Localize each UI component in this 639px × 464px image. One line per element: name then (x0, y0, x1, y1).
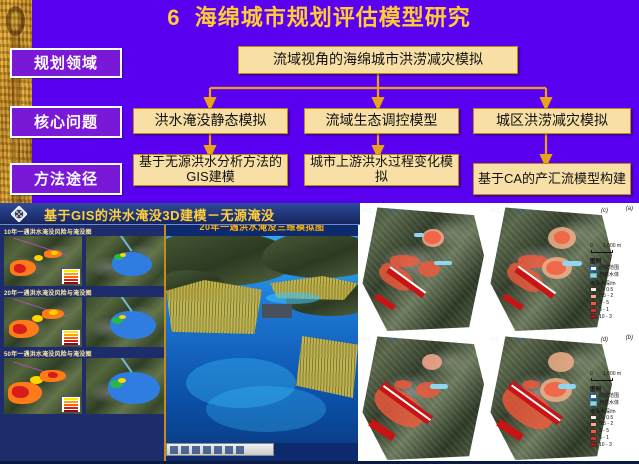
layer-icon[interactable] (203, 446, 211, 454)
left-map-label-20yr: 20年一遇洪水淹没风险与淹没图 (0, 288, 166, 297)
flow-mid-box-1: 洪水淹没静态模拟 (133, 108, 288, 134)
category-label-method-approach: 方法途径 (10, 163, 122, 195)
map-legend-top: 0 1,000 m 图例 研究范围 自然水体 淹没水深/m 0 - 0.5 (590, 243, 638, 320)
risk-map-50yr (4, 358, 82, 414)
tools-icon[interactable] (236, 446, 244, 454)
legend-swatch (590, 294, 597, 299)
category-label-core-question: 核心问题 (10, 106, 122, 138)
legend-swatch (590, 401, 597, 406)
info-icon[interactable] (225, 446, 233, 454)
gis-banner: 基于GIS的洪水淹没3D建模－无源淹没 (0, 203, 360, 225)
legend-swatch (590, 394, 597, 399)
left-map-pair-10yr (4, 236, 164, 286)
panel-corner-tag-d: 点位 (490, 336, 500, 343)
viewer-toolbar[interactable] (166, 443, 274, 456)
scale-zero-label: 0 (590, 243, 593, 249)
flow-root-box: 流域视角的海绵城市洪涝减灾模拟 (238, 46, 518, 74)
legend-depth-label: 0.5 - 2 (599, 293, 613, 300)
legend-depth-title: 淹没水深/m (590, 280, 638, 287)
legend-depth-label: 0.5 - 2 (599, 421, 613, 428)
legend-item-label: 自然水体 (599, 400, 619, 407)
legend-item-natural-water: 自然水体 (590, 400, 638, 407)
flow-leaf-box-1: 基于无源洪水分析方法的GIS建模 (133, 154, 288, 186)
legend-item-natural-water: 自然水体 (590, 272, 638, 279)
legend-swatch (590, 415, 597, 420)
map-panel-b: 点位 (360, 334, 484, 460)
legend-swatch (590, 436, 597, 441)
panel-tag-d: (d) (601, 337, 608, 343)
scale-bar-top: 0 1,000 m (590, 243, 638, 255)
legend-depth-label: 5 - 1 (599, 435, 609, 442)
panel-corner-tag-b: 点位 (362, 336, 372, 343)
legend-depth-class: 2 - 5 (590, 300, 638, 307)
legend-title: 图例 (590, 257, 638, 265)
legend-item-label: 自然水体 (599, 272, 619, 279)
legend-swatch (590, 442, 597, 447)
slide-number: 6 (167, 5, 180, 30)
legend-depth-title: 淹没水深/m (590, 408, 638, 415)
panel-tag-a: (a) (626, 206, 633, 212)
center-3d-scene (166, 236, 358, 443)
legend-title: 图例 (590, 385, 638, 393)
pan-icon[interactable] (170, 446, 178, 454)
scale-max-label: 1,000 m (603, 243, 621, 249)
flow-leaf-box-2: 城市上游洪水过程变化模拟 (304, 154, 459, 186)
left-map-screenshot: 10年一遇洪水淹没风险与淹没图 (0, 203, 166, 464)
flow-leaf-box-3: 基于CA的产汇流模型构建 (473, 163, 631, 195)
bottom-figure-area: 基于GIS的洪水淹没3D建模－无源淹没 10年一遇洪水淹没风险与淹没图 (0, 203, 639, 464)
globe-diamond-icon (11, 206, 27, 222)
legend-swatch (590, 422, 597, 427)
inundation-map-50yr (86, 358, 164, 414)
panel-corner-tag-c: 点位 (490, 207, 500, 214)
legend-depth-label: 10 - 3 (599, 442, 612, 449)
legend-swatch (590, 301, 597, 306)
scale-zero-label: 0 (590, 371, 593, 377)
slide-canvas: 6 海绵城市规划评估模型研究 规划领域 核心问题 方法途径 流域视角的海绵城市洪… (0, 0, 639, 464)
legend-item-study-area: 研究范围 (590, 393, 638, 400)
legend-depth-class: 0 - 0.5 (590, 287, 638, 294)
risk-map-20yr (4, 297, 82, 347)
legend-swatch (590, 287, 597, 292)
scale-bar-graphic (591, 378, 613, 381)
legend-depth-class: 10 - 3 (590, 314, 638, 321)
page-title: 6 海绵城市规划评估模型研究 (104, 2, 534, 34)
legend-swatch (590, 314, 597, 319)
map-legend-bottom: 0 1,000 m 图例 研究范围 自然水体 淹没水深/m 0 - 0.5 (590, 371, 638, 448)
legend-swatch (590, 308, 597, 313)
measure-icon[interactable] (192, 446, 200, 454)
legend-depth-label: 5 - 1 (599, 307, 609, 314)
legend-depth-class: 5 - 1 (590, 307, 638, 314)
panel-corner-tag-a: 点位 (362, 207, 372, 214)
center-3d-panel: 20年一遇洪水淹没三维模拟图 (166, 203, 358, 464)
inundation-map-20yr (86, 297, 164, 347)
legend-depth-class: 0.5 - 2 (590, 293, 638, 300)
risk-legend-20yr (61, 329, 81, 346)
scale-max-label: 1,000 m (603, 371, 621, 377)
left-map-label-50yr: 50年一遇洪水淹没风险与淹没图 (0, 349, 166, 358)
inundation-map-10yr (86, 236, 164, 286)
legend-depth-class: 0 - 0.5 (590, 415, 638, 422)
panel-tag-b: (b) (626, 335, 633, 341)
gis-banner-text: 基于GIS的洪水淹没3D建模－无源淹没 (44, 205, 275, 224)
zoom-icon[interactable] (181, 446, 189, 454)
right-quad-figure: 点位 点位 (c) (358, 203, 639, 464)
legend-depth-class: 5 - 1 (590, 435, 638, 442)
risk-legend-10yr (61, 268, 81, 285)
left-map-label-10yr: 10年一遇洪水淹没风险与淹没图 (0, 227, 166, 236)
legend-depth-label: 0 - 0.5 (599, 287, 613, 294)
legend-item-label: 研究范围 (599, 393, 619, 400)
legend-swatch (590, 266, 597, 271)
legend-depth-label: 10 - 3 (599, 314, 612, 321)
legend-depth-class: 10 - 3 (590, 442, 638, 449)
panel-tag-c: (c) (601, 208, 608, 214)
legend-item-study-area: 研究范围 (590, 265, 638, 272)
category-label-planning-field: 规划领域 (10, 48, 122, 78)
decorative-ring (6, 6, 25, 36)
legend-item-label: 研究范围 (599, 265, 619, 272)
risk-legend-50yr (61, 396, 81, 413)
legend-depth-label: 0 - 0.5 (599, 415, 613, 422)
legend-swatch (590, 273, 597, 278)
risk-map-10yr (4, 236, 82, 286)
legend-depth-class: 0.5 - 2 (590, 421, 638, 428)
scale-bar-bottom: 0 1,000 m (590, 371, 638, 383)
map-panel-a: 点位 (360, 205, 484, 331)
print-icon[interactable] (214, 446, 222, 454)
left-map-pair-20yr (4, 297, 164, 347)
legend-depth-label: 2 - 5 (599, 428, 609, 435)
left-map-pair-50yr (4, 358, 164, 414)
legend-depth-class: 2 - 5 (590, 428, 638, 435)
flow-mid-box-2: 流域生态调控模型 (304, 108, 459, 134)
scale-bar-graphic (591, 250, 613, 253)
flow-mid-box-3: 城区洪涝减灾模拟 (473, 108, 631, 134)
legend-swatch (590, 429, 597, 434)
legend-depth-label: 2 - 5 (599, 300, 609, 307)
slide-title-text: 海绵城市规划评估模型研究 (195, 5, 471, 30)
